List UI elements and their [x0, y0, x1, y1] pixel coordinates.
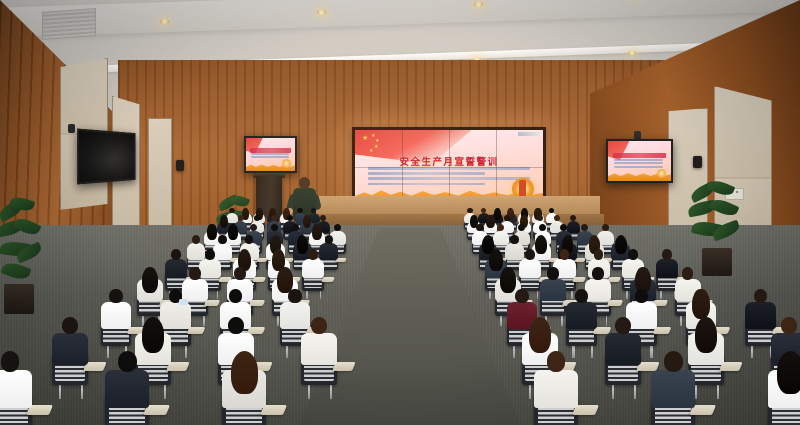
attendee-head: [547, 351, 566, 371]
chair-leg: [695, 385, 697, 400]
ceiling-downlight: [628, 51, 636, 56]
attendee-long-hair: [777, 352, 800, 394]
attendee-head: [229, 208, 234, 214]
chair-leg: [634, 385, 636, 400]
tv-body-line: [251, 156, 289, 158]
potted-plant-left: [0, 196, 52, 316]
attendee-torso: [301, 333, 338, 365]
left-tv-mount: [68, 124, 75, 133]
attendee-head: [602, 224, 609, 232]
chair-leg: [591, 346, 593, 358]
tv-body-line: [614, 166, 663, 168]
attendee-head: [662, 249, 672, 259]
left-wall-tv-screen: [79, 131, 134, 182]
attendee-torso: [605, 333, 642, 365]
attendee-head: [228, 317, 244, 334]
attendee-head: [62, 317, 78, 334]
attendee-torso: [165, 259, 187, 278]
attendee-torso: [745, 302, 776, 329]
tv-body-line: [614, 159, 663, 161]
attendee-torso: [199, 259, 221, 278]
attendee-head: [510, 235, 518, 244]
attendee-head: [297, 208, 302, 214]
tv-body-line: [251, 153, 289, 155]
attendee-torso: [187, 243, 206, 259]
chair-tablet-arm[interactable]: [321, 277, 335, 282]
chair-leg: [203, 316, 205, 326]
attendee-long-hair: [692, 290, 711, 320]
attendee-long-hair: [297, 236, 308, 254]
attendee-head: [547, 267, 558, 279]
attendee-head: [628, 249, 638, 259]
plant-pot: [4, 284, 34, 314]
tv-headline-bar: [613, 153, 666, 158]
attendee-head: [288, 289, 301, 303]
chair-leg: [537, 291, 538, 300]
ceiling-downlight: [474, 2, 483, 7]
chair-leg: [306, 291, 307, 300]
attendee-head: [334, 224, 341, 232]
potted-plant-right: [688, 182, 748, 278]
air-vent-icon: [42, 8, 96, 40]
attendee-long-hair: [615, 236, 626, 254]
attendee-head: [109, 289, 122, 303]
attendee-head: [594, 249, 604, 259]
chair-leg: [561, 316, 563, 326]
attendee-long-hair: [489, 250, 502, 272]
presenter-head: [299, 177, 310, 189]
chair-leg: [626, 291, 627, 300]
chair-leg: [680, 316, 682, 326]
attendee-torso: [519, 259, 541, 278]
attendee-long-hair: [535, 236, 546, 254]
attendee-head: [118, 351, 137, 371]
attendee-head: [238, 215, 244, 221]
attendee-head: [229, 289, 242, 303]
chair-leg: [330, 385, 332, 400]
attendee-long-hair: [695, 318, 717, 353]
attendee-long-hair: [312, 224, 322, 240]
attendee-torso: [182, 279, 208, 302]
chair-leg: [217, 291, 218, 300]
flag-star-icon: ★: [374, 145, 378, 150]
attendee-head: [682, 267, 693, 279]
chair-leg: [650, 346, 652, 358]
chair-leg: [164, 385, 166, 400]
attendee-long-hair: [142, 268, 158, 293]
attendee-long-hair: [207, 224, 217, 240]
attendee-torso: [656, 259, 678, 278]
attendee-torso: [52, 333, 89, 365]
left-wall-tv[interactable]: [77, 129, 135, 185]
chair-leg: [612, 385, 614, 400]
right-wall-tv-screen: [608, 141, 671, 181]
attendee-torso: [651, 370, 695, 408]
chair-leg: [308, 385, 310, 400]
attendee-head: [615, 317, 631, 334]
led-body-line: [368, 183, 484, 186]
plant-leaf: [12, 215, 41, 238]
led-tile-seam: [355, 167, 543, 168]
chair-leg: [107, 346, 109, 358]
attendee-torso: [585, 279, 611, 302]
tv-headline-bar: [250, 148, 291, 153]
attendee-long-hair: [486, 215, 494, 228]
conference-hall-photo: ★ ★ ★ ★ ★ 安全生产月宣誓警训: [0, 0, 800, 425]
main-led-video-wall[interactable]: ★ ★ ★ ★ ★ 安全生产月宣誓警训: [352, 127, 546, 207]
plant-leaf: [229, 193, 250, 209]
attendee-torso: [105, 370, 149, 408]
attendee-long-hair: [500, 268, 516, 293]
tv-gear-emblem-icon: [657, 169, 666, 178]
attendee-torso: [213, 243, 232, 259]
attendee-torso: [534, 370, 578, 408]
attendee-head: [525, 249, 535, 259]
attendee-head: [325, 235, 333, 244]
attendee-torso: [302, 259, 324, 278]
chair-leg: [513, 346, 515, 358]
attendee-head: [308, 249, 318, 259]
attendee-torso: [505, 243, 524, 259]
wall-speaker-left-icon: [176, 160, 184, 171]
attendee-torso: [280, 302, 311, 329]
chair-leg: [606, 316, 608, 326]
tv-body-line: [614, 162, 663, 164]
attendee-head: [311, 317, 327, 334]
attendee-head: [245, 235, 253, 244]
attendee-torso: [160, 302, 191, 329]
led-body-line: [368, 172, 484, 175]
attendee-head: [189, 267, 200, 279]
attendee-head: [664, 351, 683, 371]
attendee-long-hair: [231, 352, 258, 394]
chair-leg: [529, 385, 531, 400]
chair-leg: [320, 291, 321, 300]
chair-leg: [717, 385, 719, 400]
led-wall-content: ★ ★ ★ ★ ★ 安全生产月宣誓警训: [355, 130, 543, 204]
attendee-head: [781, 317, 797, 334]
attendee-head: [592, 267, 603, 279]
attendee-torso: [101, 302, 132, 329]
chair-leg: [59, 385, 61, 400]
flag-star-icon: ★: [362, 136, 368, 141]
stage-left-tv[interactable]: [244, 136, 297, 173]
acoustic-panel-center-left: [148, 118, 172, 238]
attendee-torso: [540, 279, 566, 302]
wall-speaker-right-icon: [693, 156, 702, 168]
led-corner-logo: [518, 132, 540, 136]
attendee-head: [476, 224, 483, 232]
attendee-head: [234, 267, 245, 279]
chair-leg: [185, 346, 187, 358]
attendee-head: [218, 235, 226, 244]
attendee-long-hair: [303, 215, 311, 228]
attendee-long-hair: [142, 318, 164, 353]
chair-leg: [286, 346, 288, 358]
attendee-head: [635, 289, 648, 303]
face-mask: [179, 299, 187, 305]
attendee-head: [467, 208, 472, 214]
attendee-torso: [0, 370, 32, 408]
plant-leaf: [0, 260, 31, 283]
attendee-head: [271, 215, 277, 221]
stage-left-tv-screen: [246, 138, 295, 171]
chair-leg: [489, 291, 490, 300]
attendee-head: [554, 215, 560, 221]
attendee-torso: [319, 243, 338, 259]
chair-leg: [277, 316, 279, 326]
chair-leg: [500, 316, 502, 326]
chair-leg: [571, 291, 572, 300]
attendee-head: [171, 249, 181, 259]
chair-leg: [660, 291, 661, 300]
attendee-long-hair: [228, 224, 238, 240]
attendee-torso: [567, 221, 581, 233]
attendee-torso: [566, 302, 597, 329]
attendee-head: [515, 289, 528, 303]
attendee-head: [205, 249, 215, 259]
attendee-long-hair: [220, 215, 228, 228]
attendee-torso: [493, 231, 509, 245]
attendee-head: [192, 235, 200, 244]
chair-leg: [751, 346, 753, 358]
attendee-long-hair: [529, 318, 551, 353]
right-wall-tv[interactable]: [606, 139, 673, 183]
plant-pot: [702, 248, 732, 276]
attendee-head: [1, 351, 20, 371]
plant-leaf: [709, 196, 740, 219]
chair-leg: [572, 346, 574, 358]
flag-star-icon: ★: [369, 149, 373, 154]
attendee-head: [560, 249, 570, 259]
attendee-head: [581, 224, 588, 232]
chair-leg: [81, 385, 83, 400]
